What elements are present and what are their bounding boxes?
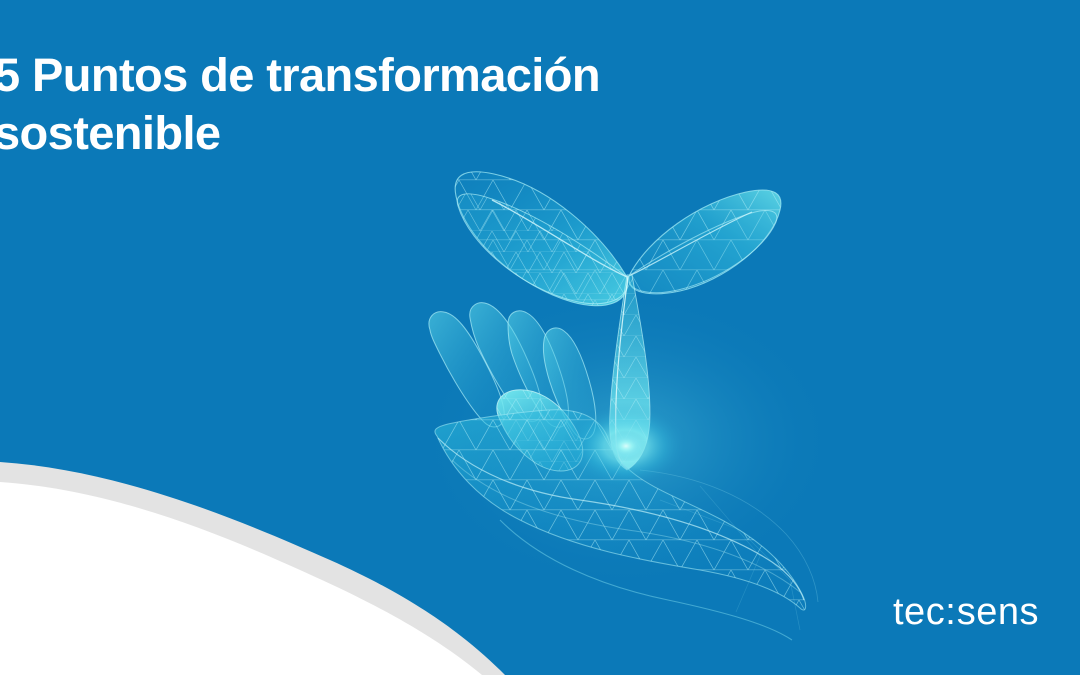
- page-title-line-2: sostenible: [0, 106, 220, 159]
- page-title: 5 Puntos de transformaciónsostenible: [0, 46, 894, 162]
- tecsens-logo[interactable]: tec:sens: [893, 592, 1039, 632]
- slide-canvas: 5 Puntos de transformaciónsostenible tec…: [0, 0, 1080, 675]
- logo-suffix: sens: [957, 591, 1039, 633]
- logo-separator-icon: :: [945, 591, 957, 633]
- page-title-line-1: 5 Puntos de transformación: [0, 48, 600, 101]
- logo-prefix: tec: [893, 591, 945, 633]
